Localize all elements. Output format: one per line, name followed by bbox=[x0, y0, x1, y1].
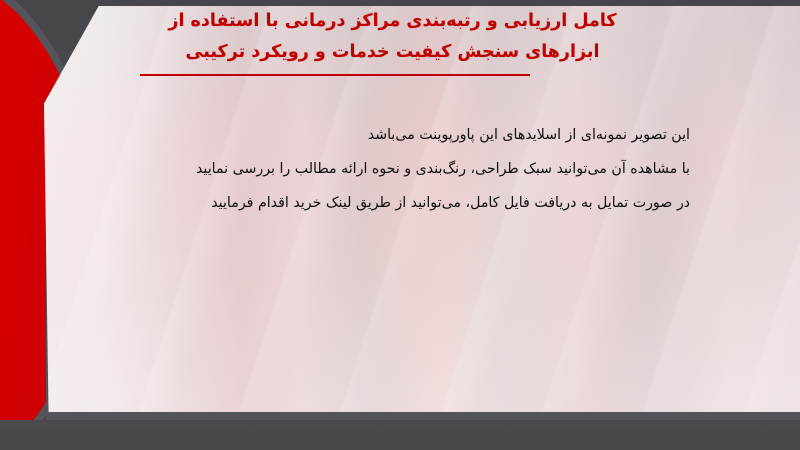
slide-title: کامل ارزیابی و رتبه‌بندی مراکز درمانی با… bbox=[120, 6, 665, 68]
slide-body-text: این تصویر نمونه‌ای از اسلایدهای این پاور… bbox=[110, 118, 690, 220]
body-line-1: این تصویر نمونه‌ای از اسلایدهای این پاور… bbox=[110, 118, 690, 152]
slide-canvas: کامل ارزیابی و رتبه‌بندی مراکز درمانی با… bbox=[0, 0, 800, 450]
body-line-3: در صورت تمایل به دریافت فایل کامل، می‌تو… bbox=[110, 186, 690, 220]
slide-title-line-1: کامل ارزیابی و رتبه‌بندی مراکز درمانی با… bbox=[120, 6, 665, 37]
slide-title-line-2: ابزارهای سنجش کیفیت خدمات و رویکرد ترکیب… bbox=[120, 37, 665, 68]
body-line-2: با مشاهده آن می‌توانید سبک طراحی، رنگ‌بن… bbox=[110, 152, 690, 186]
title-underline-rule bbox=[140, 74, 530, 76]
slide-bottom-bar bbox=[0, 420, 800, 450]
